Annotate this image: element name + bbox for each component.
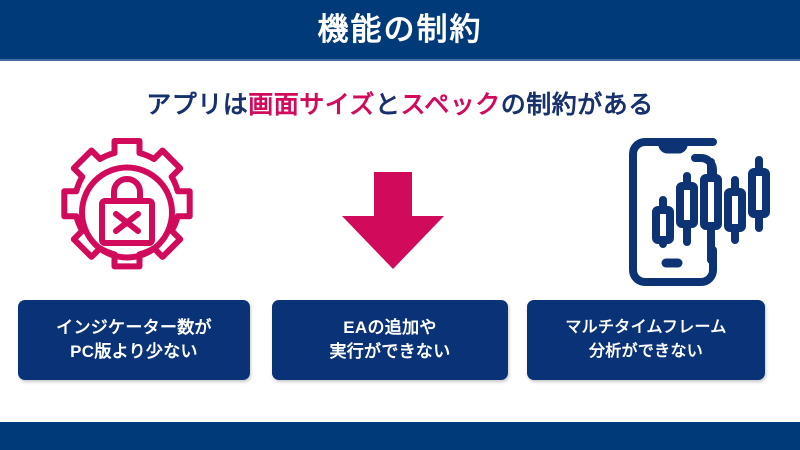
page-title: 機能の制約 <box>0 0 800 59</box>
box-line: PC版より少ない <box>70 340 198 364</box>
limitation-box-ea[interactable]: EAの追加や 実行ができない <box>272 300 508 380</box>
footer-bar <box>0 422 800 450</box>
limitation-box-multitimeframe[interactable]: マルチタイムフレーム 分析ができない <box>527 300 765 380</box>
box-line: マルチタイムフレーム <box>565 316 726 340</box>
subtitle: アプリは画面サイズとスペックの制約がある <box>0 85 800 121</box>
icon-row <box>0 130 800 290</box>
subtitle-segment-3: と <box>375 91 401 119</box>
box-line: インジケーター数が <box>56 316 212 340</box>
subtitle-segment-5: の制約がある <box>501 91 654 119</box>
subtitle-segment-1: アプリは <box>146 91 248 119</box>
slide-canvas: 機能の制約 アプリは画面サイズとスペックの制約がある <box>0 0 800 450</box>
arrow-down-icon <box>338 168 448 273</box>
limitation-boxes: インジケーター数が PC版より少ない EAの追加や 実行ができない マルチタイム… <box>0 300 800 382</box>
limitation-box-indicators[interactable]: インジケーター数が PC版より少ない <box>18 300 250 380</box>
header-bar: 機能の制約 <box>0 0 800 61</box>
smartphone-candlestick-chart-icon <box>625 132 775 290</box>
subtitle-segment-2: 画面サイズ <box>248 91 375 119</box>
box-line: EAの追加や <box>343 316 436 340</box>
box-line: 実行ができない <box>329 340 450 364</box>
box-line: 分析ができない <box>589 340 703 364</box>
subtitle-segment-4: スペック <box>401 91 501 119</box>
gear-lock-x-icon <box>48 135 214 290</box>
